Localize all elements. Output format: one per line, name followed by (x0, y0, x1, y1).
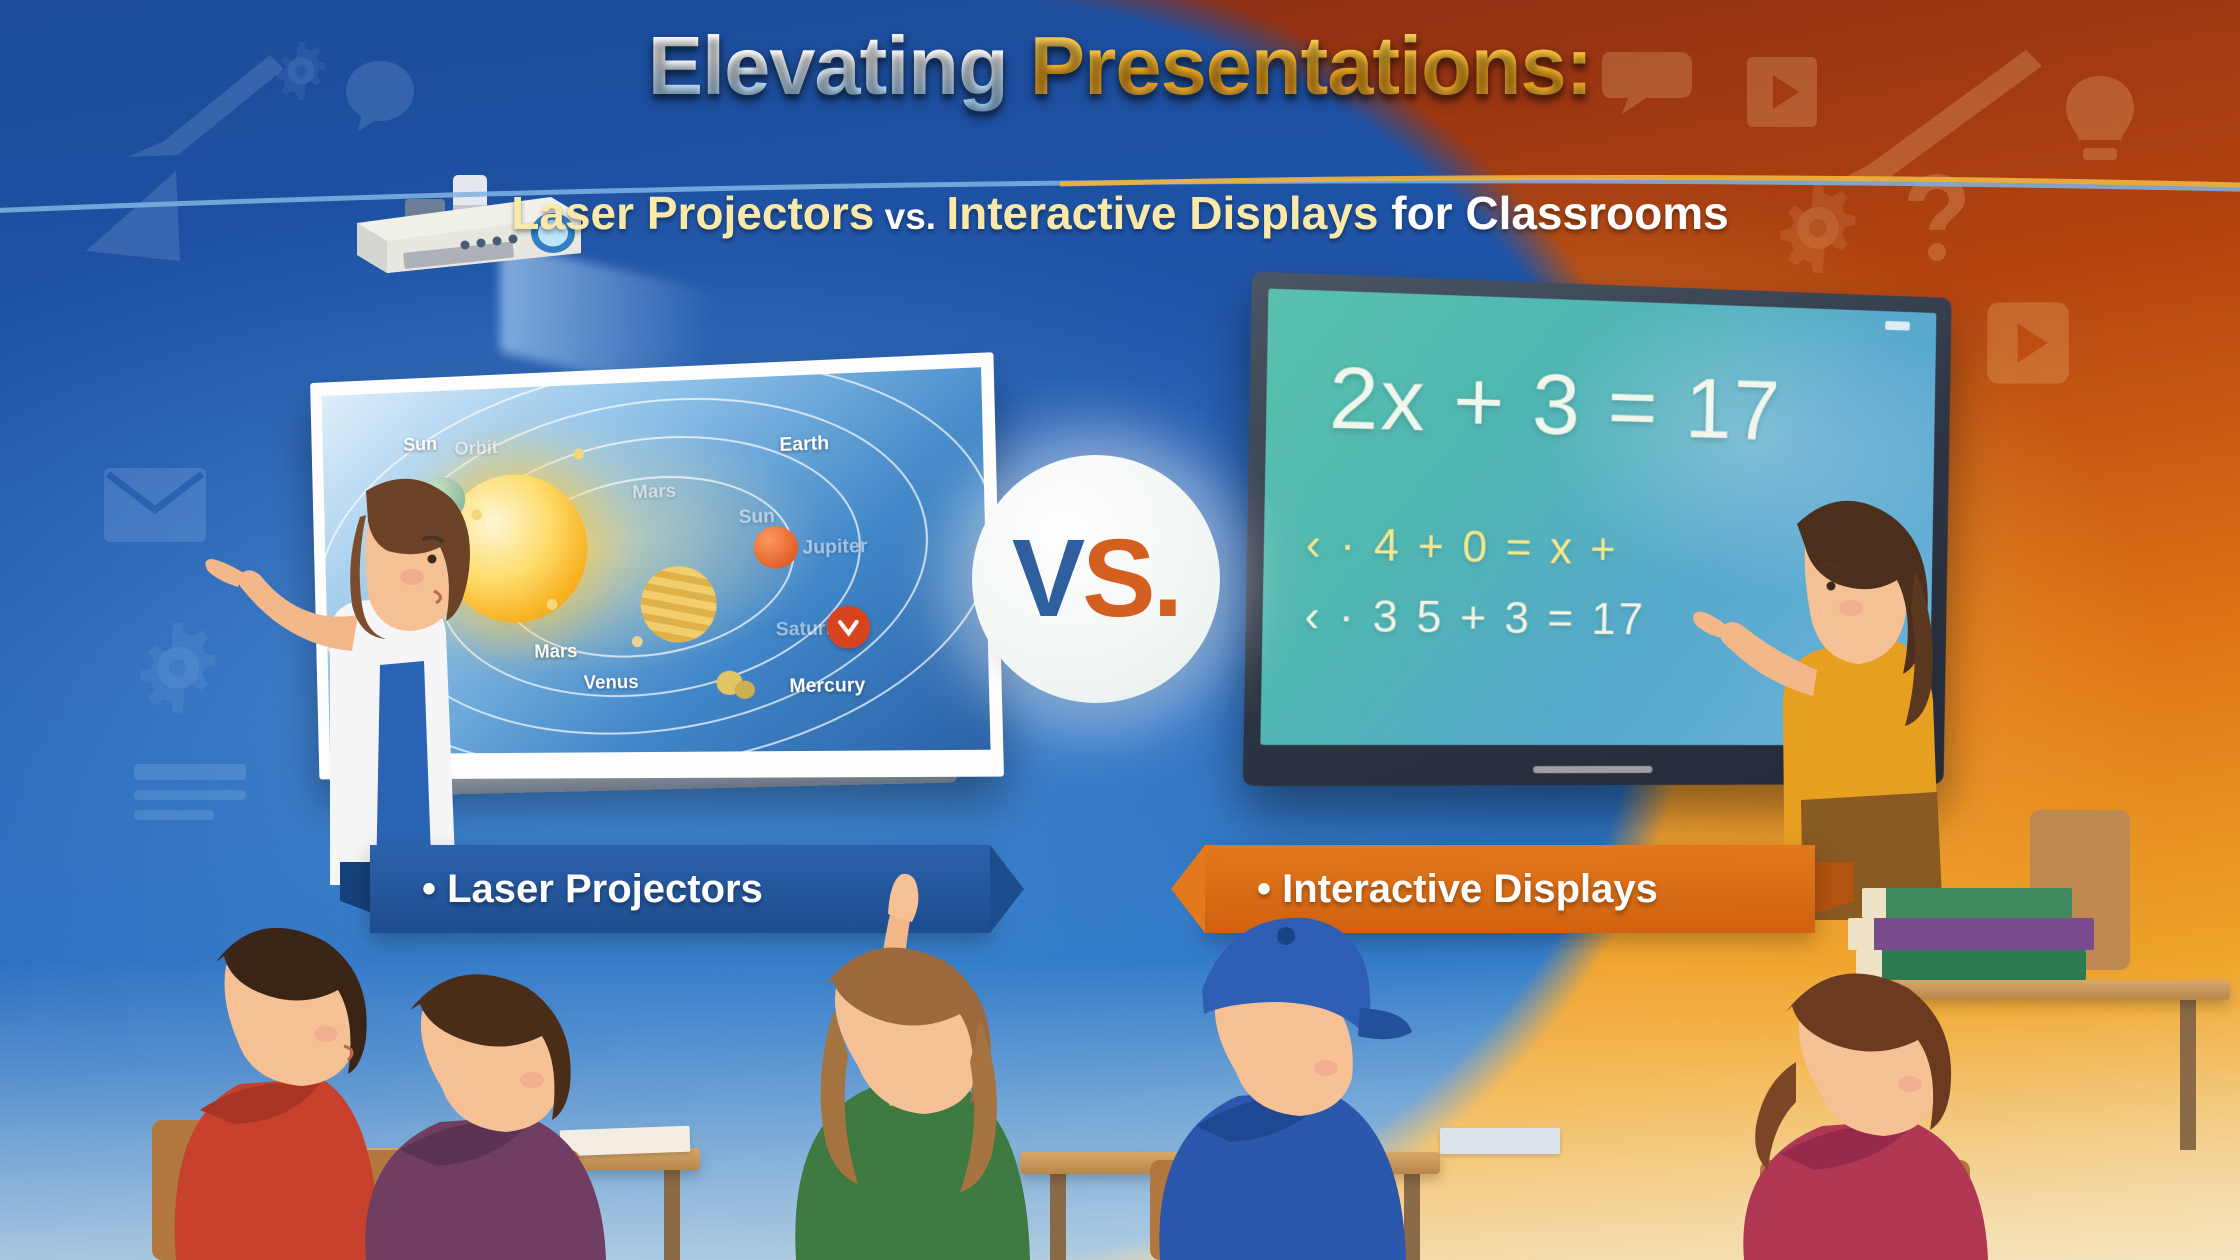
subtitle-block: Laser Projectors vs. Interactive Display… (0, 186, 2240, 240)
planet-label: Mercury (789, 675, 865, 698)
planet-label: Venus (583, 672, 639, 695)
subtitle-part-interactive-displays: Interactive Displays (946, 187, 1378, 239)
subtitle-part-laser-projectors: Laser Projectors (511, 187, 874, 239)
title-block: Elevating Presentations: (0, 22, 2240, 109)
teacher-left (180, 455, 480, 885)
subtitle: Laser Projectors vs. Interactive Display… (0, 186, 2240, 240)
vs-letter-v: V (1012, 517, 1082, 640)
student-blue-cap (1120, 880, 1420, 1260)
display-camera-indicator (1885, 321, 1910, 331)
vs-badge: VS. (972, 455, 1220, 703)
subtitle-vs: vs. (874, 196, 946, 237)
vs-text: VS. (1012, 524, 1180, 634)
book-stack-item (1862, 888, 2072, 918)
book-table-leg (2180, 1000, 2196, 1150)
warning-badge-icon (826, 605, 870, 649)
planet-label: Sun (738, 506, 775, 529)
planet-label: Mars (632, 481, 677, 504)
equation-step-1: ‹ · 4 + 0 = x + (1305, 519, 1619, 575)
banner-left-label: • Laser Projectors (422, 867, 763, 912)
student-green-shirt-pointing (740, 810, 1040, 1260)
tablet-on-desk (1440, 1128, 1560, 1154)
student-purple-shirt (330, 940, 630, 1260)
planet-small-b (735, 681, 756, 699)
planet-label: Earth (779, 433, 829, 457)
equation-step-2: ‹ · 3 5 + 3 = 17 (1304, 591, 1646, 645)
main-title: Elevating Presentations: (0, 22, 2240, 109)
title-part-presentations: Presentations: (1008, 19, 1593, 112)
student-ponytail-magenta (1700, 930, 2000, 1260)
infographic-canvas: Elevating Presentations: Laser Projector… (0, 0, 2240, 1260)
planet-label: Sun (403, 434, 437, 457)
planet-label: Mars (534, 641, 578, 664)
display-bottom-control-bar[interactable] (1533, 766, 1652, 773)
desk-leg (1050, 1172, 1066, 1260)
title-part-elevating: Elevating (648, 19, 1008, 112)
planet-label: Jupiter (802, 536, 868, 560)
subtitle-part-for-classrooms: for Classrooms (1378, 187, 1728, 239)
desk-leg (664, 1168, 680, 1260)
vs-letter-s: S. (1082, 517, 1180, 640)
